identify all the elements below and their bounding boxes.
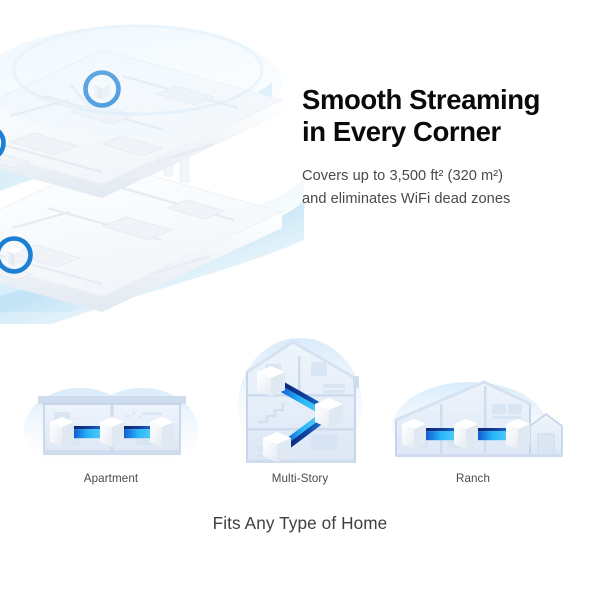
multi-story-illustration [207, 334, 393, 474]
mesh-unit [454, 419, 478, 449]
home-types-section: Apartment [0, 334, 600, 504]
mesh-unit [50, 417, 74, 447]
home-type-card-apartment[interactable]: Apartment [18, 334, 204, 504]
subhead-line-1: Covers up to 3,500 ft² (320 m²) [302, 168, 503, 184]
mesh-unit [315, 398, 343, 428]
mesh-unit [100, 417, 124, 447]
footer-caption: Fits Any Type of Home [0, 513, 600, 534]
headline-line-2: in Every Corner [302, 116, 501, 147]
mesh-unit [263, 432, 291, 462]
headline-block: Smooth Streaming in Every Corner Covers … [302, 84, 582, 210]
home-type-card-multi-story[interactable]: Multi-Story [207, 334, 393, 504]
hero-section: Smooth Streaming in Every Corner Covers … [0, 0, 600, 330]
floorplan-lower-floor [0, 162, 282, 312]
floorplan-illustration [0, 12, 304, 324]
headline-line-1: Smooth Streaming [302, 84, 540, 115]
page-subtitle: Covers up to 3,500 ft² (320 m²) and elim… [302, 165, 582, 209]
home-type-card-ranch[interactable]: Ranch [380, 334, 566, 504]
mesh-unit [506, 419, 530, 449]
subhead-line-2: and eliminates WiFi dead zones [302, 191, 510, 207]
apartment-illustration [18, 334, 204, 474]
home-type-label-apartment: Apartment [18, 472, 204, 485]
home-type-label-multi-story: Multi-Story [207, 472, 393, 485]
mesh-unit [257, 366, 285, 396]
home-type-label-ranch: Ranch [380, 472, 566, 485]
ranch-illustration [380, 334, 566, 474]
mesh-unit [150, 417, 174, 447]
mesh-unit [402, 419, 426, 449]
page-title: Smooth Streaming in Every Corner [302, 84, 582, 148]
